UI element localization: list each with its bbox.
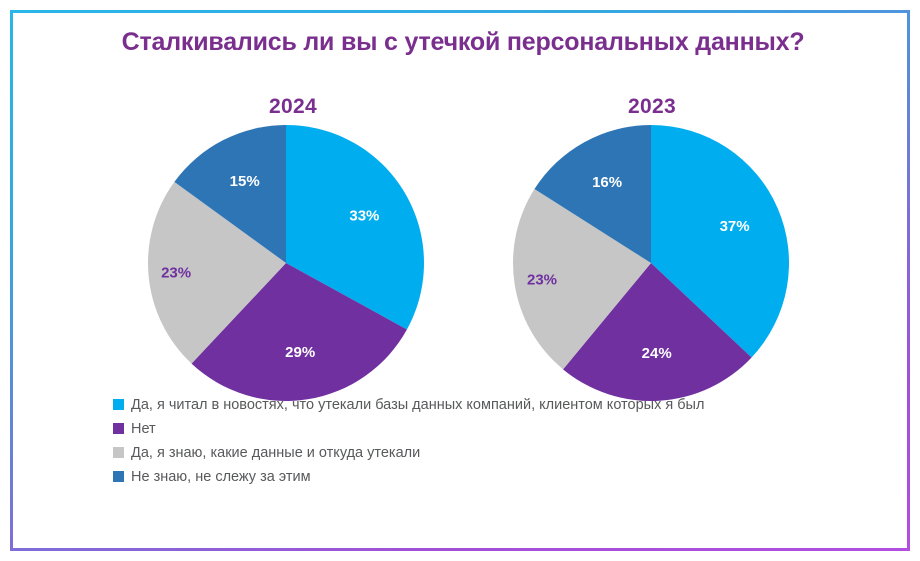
pie-slice-label: 23% xyxy=(527,271,557,288)
legend-item-label: Не знаю, не слежу за этим xyxy=(131,468,311,486)
pie-slice-label: 23% xyxy=(161,264,191,281)
pie-slice-label: 37% xyxy=(720,218,750,235)
pie-panel-2024: 2024 33%29%23%15% xyxy=(138,95,438,403)
legend-item-label: Нет xyxy=(131,420,156,438)
legend-swatch-icon xyxy=(113,447,124,458)
pie-slice-label: 24% xyxy=(642,345,672,362)
chart-canvas: Сталкивались ли вы с утечкой персональны… xyxy=(13,13,907,548)
legend-swatch-icon xyxy=(113,471,124,482)
pie-svg-2023: 37%24%23%16% xyxy=(511,123,791,403)
legend-item[interactable]: Нет xyxy=(113,417,853,440)
pie-panel-2023: 2023 37%24%23%16% xyxy=(493,95,793,403)
pie-year-label-2023: 2023 xyxy=(493,95,793,123)
pie-slice-label: 29% xyxy=(285,344,315,361)
pie-slice-label: 33% xyxy=(349,208,379,225)
legend-item-label: Да, я знаю, какие данные и откуда утекал… xyxy=(131,444,420,462)
legend-item[interactable]: Не знаю, не слежу за этим xyxy=(113,465,853,488)
pie-chart-2023: 37%24%23%16% xyxy=(493,123,793,403)
pie-year-label-2024: 2024 xyxy=(138,95,438,123)
chart-legend: Да, я читал в новостях, что утекали базы… xyxy=(113,393,853,489)
pie-svg-2024: 33%29%23%15% xyxy=(146,123,426,403)
legend-item[interactable]: Да, я читал в новостях, что утекали базы… xyxy=(113,393,853,416)
legend-swatch-icon xyxy=(113,423,124,434)
legend-item[interactable]: Да, я знаю, какие данные и откуда утекал… xyxy=(113,441,853,464)
page-title: Сталкивались ли вы с утечкой персональны… xyxy=(73,27,853,58)
pie-slice-label: 16% xyxy=(592,174,622,191)
pie-slice-label: 15% xyxy=(230,173,260,190)
pie-chart-2024: 33%29%23%15% xyxy=(138,123,438,403)
legend-item-label: Да, я читал в новостях, что утекали базы… xyxy=(131,396,704,414)
legend-swatch-icon xyxy=(113,399,124,410)
gradient-border-frame: Сталкивались ли вы с утечкой персональны… xyxy=(10,10,910,551)
